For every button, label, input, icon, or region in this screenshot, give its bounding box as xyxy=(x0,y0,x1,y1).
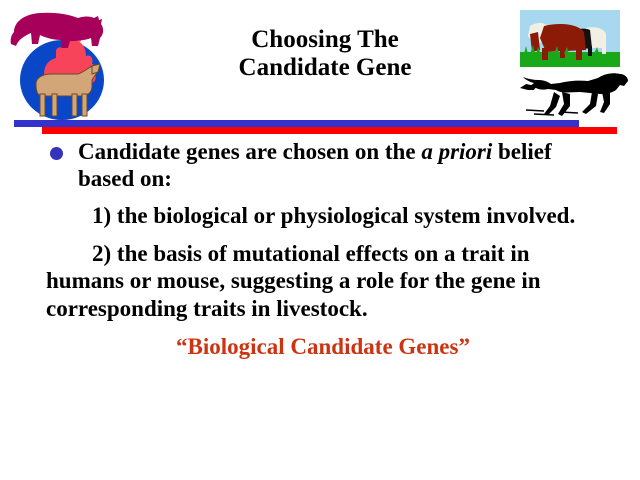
bullet-text-italic: a priori xyxy=(421,139,492,164)
divider-bar-blue xyxy=(14,120,579,127)
bullet-text-lead: Candidate genes are chosen on the xyxy=(78,139,421,164)
divider-bar-red xyxy=(42,127,617,134)
numbered-item-2: 2) the basis of mutational effects on a … xyxy=(46,240,606,323)
presentation-slide: Choosing The Candidate Gene xyxy=(0,0,640,480)
page-title: Choosing The Candidate Gene xyxy=(150,26,500,82)
numbered-item-1: 1) the biological or physiological syste… xyxy=(46,202,606,230)
slide-body: Candidate genes are chosen on the a prio… xyxy=(46,138,606,360)
closing-quote: “Biological Candidate Genes” xyxy=(46,333,606,360)
slide-header: Choosing The Candidate Gene xyxy=(0,0,640,136)
livestock-logo xyxy=(6,2,114,124)
title-line-1: Choosing The xyxy=(150,26,500,54)
title-line-2: Candidate Gene xyxy=(150,54,500,82)
running-horse-icon xyxy=(520,68,632,120)
photo-grass xyxy=(520,52,620,67)
bullet-point-icon xyxy=(50,147,63,160)
bullet-item: Candidate genes are chosen on the a prio… xyxy=(46,138,606,192)
cattle-photo xyxy=(520,10,620,67)
